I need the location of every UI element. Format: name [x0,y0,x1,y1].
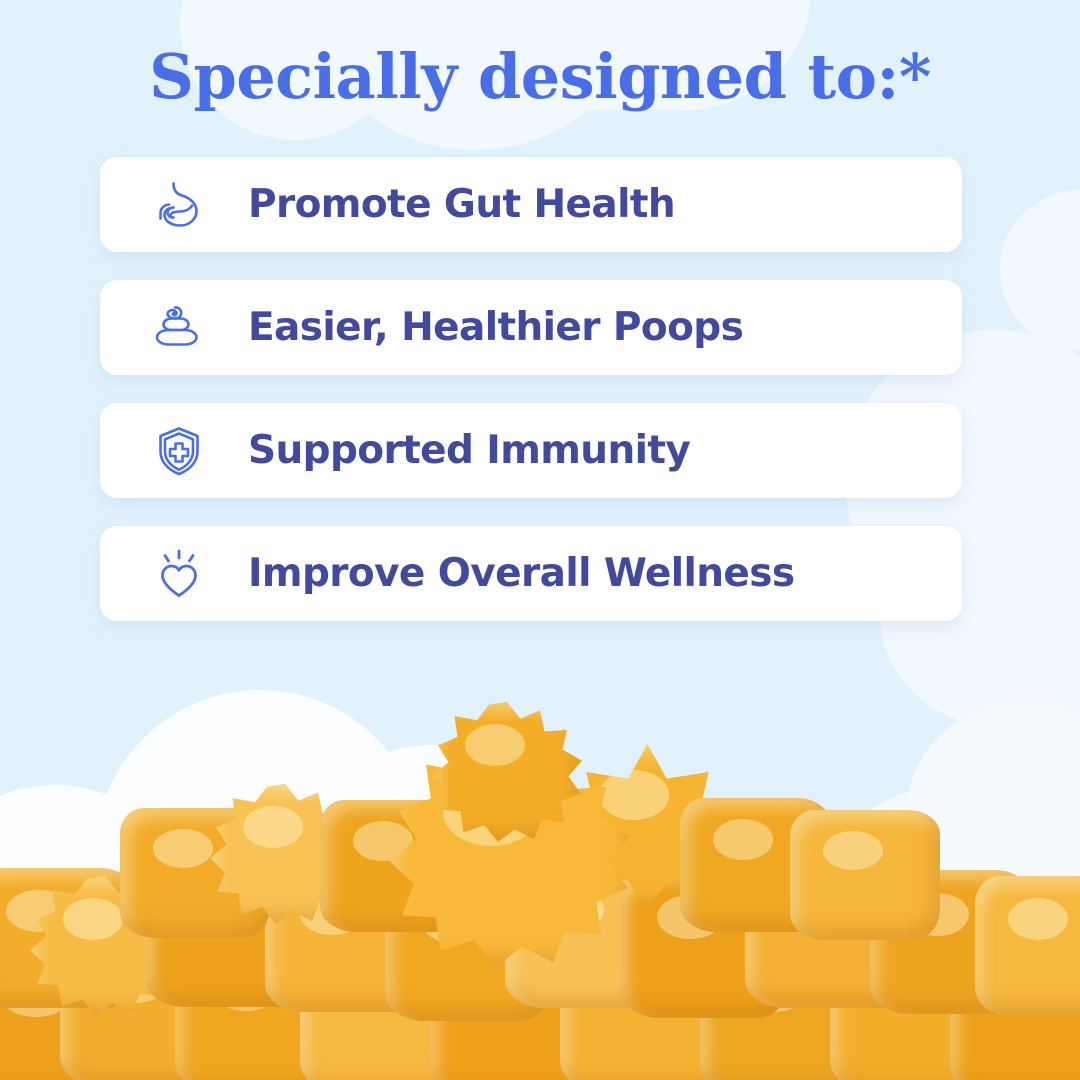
benefit-label: Promote Gut Health [248,185,675,224]
benefit-label: Supported Immunity [248,431,690,470]
benefit-card-gut-health[interactable]: Promote Gut Health [100,157,962,252]
benefit-label: Easier, Healthier Poops [248,308,743,347]
stomach-icon [150,176,208,234]
shield-plus-icon [150,422,208,480]
benefit-card-supported-immunity[interactable]: Supported Immunity [100,403,962,498]
cloud-shape-right [1000,190,1080,350]
benefit-card-overall-wellness[interactable]: Improve Overall Wellness [100,526,962,621]
benefit-card-healthier-poops[interactable]: Easier, Healthier Poops [100,280,962,375]
gummy-pile [0,680,1080,1080]
promotional-poster: Specially designed to:* Promote Gut Heal… [0,0,1080,1080]
poop-icon [150,299,208,357]
benefit-label: Improve Overall Wellness [248,554,795,593]
benefits-list: Promote Gut Health Easier, Healthier Poo… [100,157,962,621]
heart-sparkle-icon [150,545,208,603]
page-title: Specially designed to:* [0,46,1080,108]
